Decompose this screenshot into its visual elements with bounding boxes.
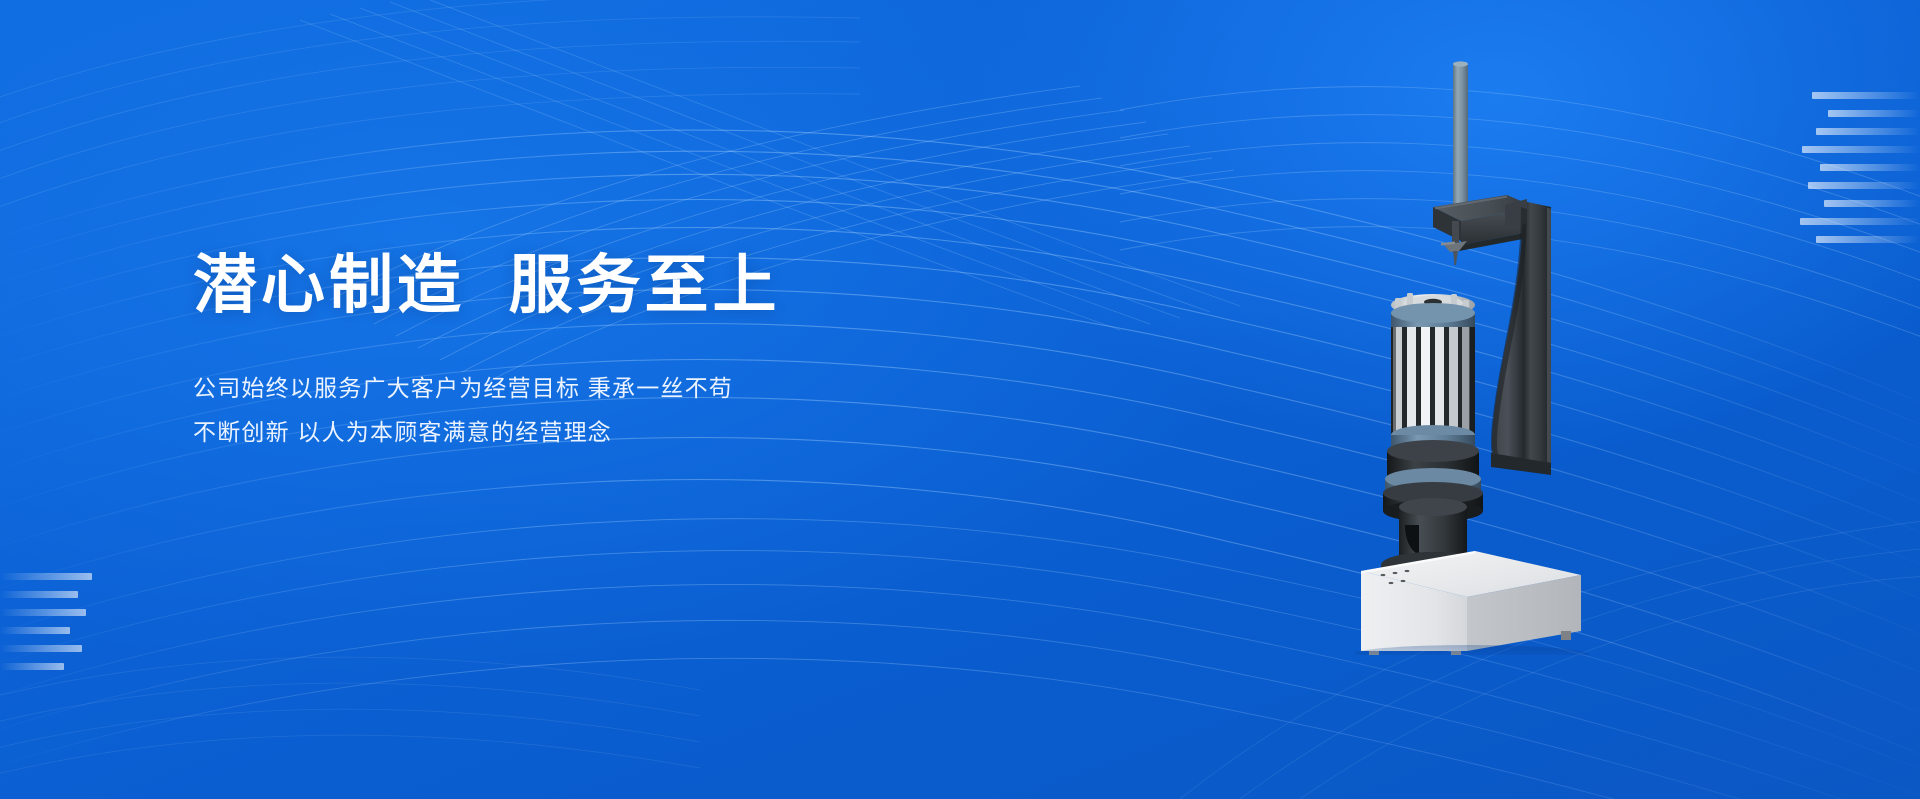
- left-edge-bars-decoration: [0, 573, 92, 681]
- finned-cylinder-part: [1391, 293, 1475, 461]
- edge-bar: [1802, 146, 1920, 153]
- edge-bar: [0, 645, 82, 652]
- edge-bar: [1828, 110, 1920, 117]
- vertical-rod-part: [1453, 61, 1468, 211]
- edge-bar: [1816, 128, 1920, 135]
- edge-bar: [0, 591, 78, 598]
- banner-subtitle-line-2: 不断创新 以人为本顾客满意的经营理念: [193, 410, 953, 454]
- edge-bar: [1808, 182, 1920, 189]
- edge-bar: [1800, 218, 1920, 225]
- edge-bar: [1816, 236, 1920, 243]
- edge-bar: [0, 573, 92, 580]
- edge-bar: [0, 609, 86, 616]
- banner-subtitle: 公司始终以服务广大客户为经营目标 秉承一丝不苟 不断创新 以人为本顾客满意的经营…: [193, 366, 953, 454]
- edge-bar: [0, 663, 64, 670]
- banner-headline: 潜心制造 服务至上: [193, 250, 953, 322]
- right-edge-bars-decoration: [1800, 92, 1920, 254]
- banner-copy: 潜心制造 服务至上 公司始终以服务广大客户为经营目标 秉承一丝不苟 不断创新 以…: [193, 250, 953, 454]
- cabinet-base-part: [1361, 551, 1581, 655]
- product-machine-illustration: [1355, 55, 1605, 655]
- banner-subtitle-line-1: 公司始终以服务广大客户为经营目标 秉承一丝不苟: [193, 366, 953, 410]
- edge-bar: [0, 627, 70, 634]
- hero-banner: 潜心制造 服务至上 公司始终以服务广大客户为经营目标 秉承一丝不苟 不断创新 以…: [0, 0, 1920, 799]
- edge-bar: [1812, 92, 1920, 99]
- edge-bar: [1824, 200, 1920, 207]
- edge-bar: [1820, 164, 1920, 171]
